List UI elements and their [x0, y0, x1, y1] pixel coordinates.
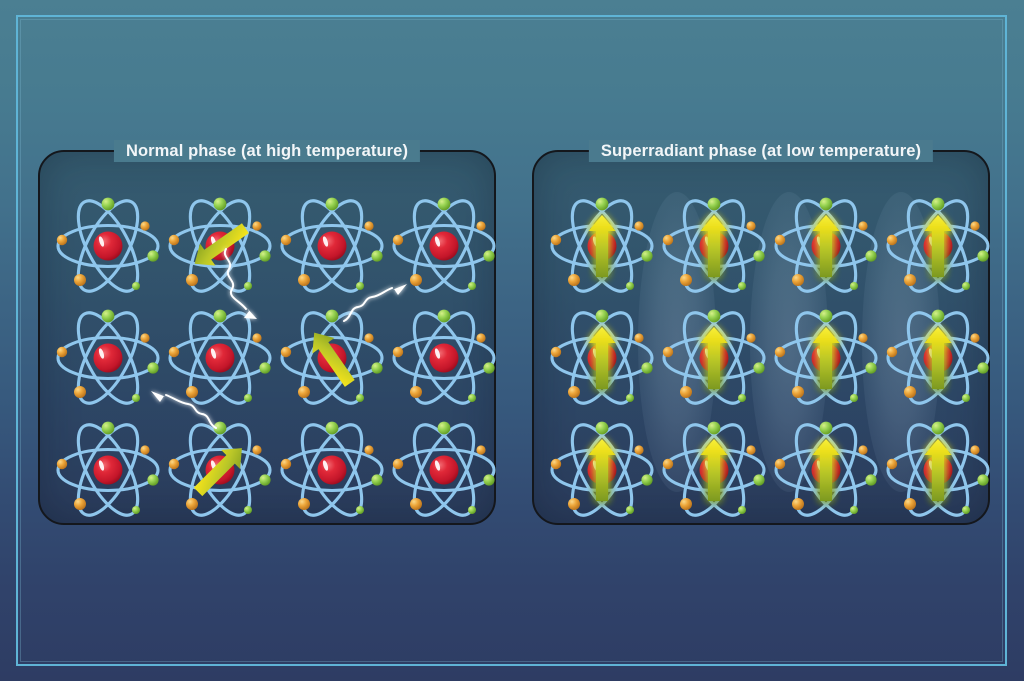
atom-graphic [880, 412, 996, 528]
atom-aligned-dipole [544, 412, 660, 528]
atom-graphic [544, 412, 660, 528]
atom-excited-dipole [162, 412, 278, 528]
atom-graphic [768, 188, 884, 304]
atom-graphic [50, 412, 166, 528]
atom-graphic [768, 300, 884, 416]
atom-grid-superradiant [534, 152, 988, 523]
atom-graphic [386, 412, 502, 528]
atom-graphic [544, 188, 660, 304]
atom-graphic [50, 188, 166, 304]
atom-graphic [386, 188, 502, 304]
atom-aligned-dipole [768, 412, 884, 528]
atom-aligned-dipole [544, 188, 660, 304]
panel-superradiant-phase: Superradiant phase (at low temperature) [532, 150, 990, 525]
atom [50, 300, 166, 416]
atom-excited-dipole [162, 188, 278, 304]
atom [50, 412, 166, 528]
atom-aligned-dipole [656, 188, 772, 304]
atom-graphic [386, 300, 502, 416]
atom-aligned-dipole [768, 300, 884, 416]
atom [50, 188, 166, 304]
atom [386, 412, 502, 528]
atom-aligned-dipole [656, 300, 772, 416]
atom-graphic [162, 300, 278, 416]
atom-aligned-dipole [880, 412, 996, 528]
panel-normal-phase: Normal phase (at high temperature) [38, 150, 496, 525]
atom-graphic [656, 188, 772, 304]
atom-graphic [656, 300, 772, 416]
atom [386, 300, 502, 416]
atom-excited-dipole [274, 300, 390, 416]
atom-graphic [274, 188, 390, 304]
atom-graphic [880, 188, 996, 304]
atom-aligned-dipole [880, 300, 996, 416]
atom-graphic [880, 300, 996, 416]
atom [386, 188, 502, 304]
atom-graphic [544, 300, 660, 416]
atom [274, 188, 390, 304]
atom-graphic [162, 412, 278, 528]
atom-graphic [656, 412, 772, 528]
atom [274, 412, 390, 528]
atom-graphic [50, 300, 166, 416]
atom [162, 300, 278, 416]
atom-aligned-dipole [656, 412, 772, 528]
atom-graphic [768, 412, 884, 528]
atom-graphic [274, 412, 390, 528]
atom-graphic [162, 188, 278, 304]
atom-aligned-dipole [544, 300, 660, 416]
figure-canvas: Normal phase (at high temperature) Super… [0, 0, 1024, 681]
atom-aligned-dipole [768, 188, 884, 304]
atom-aligned-dipole [880, 188, 996, 304]
atom-grid-normal [40, 152, 494, 523]
atom-graphic [274, 300, 390, 416]
